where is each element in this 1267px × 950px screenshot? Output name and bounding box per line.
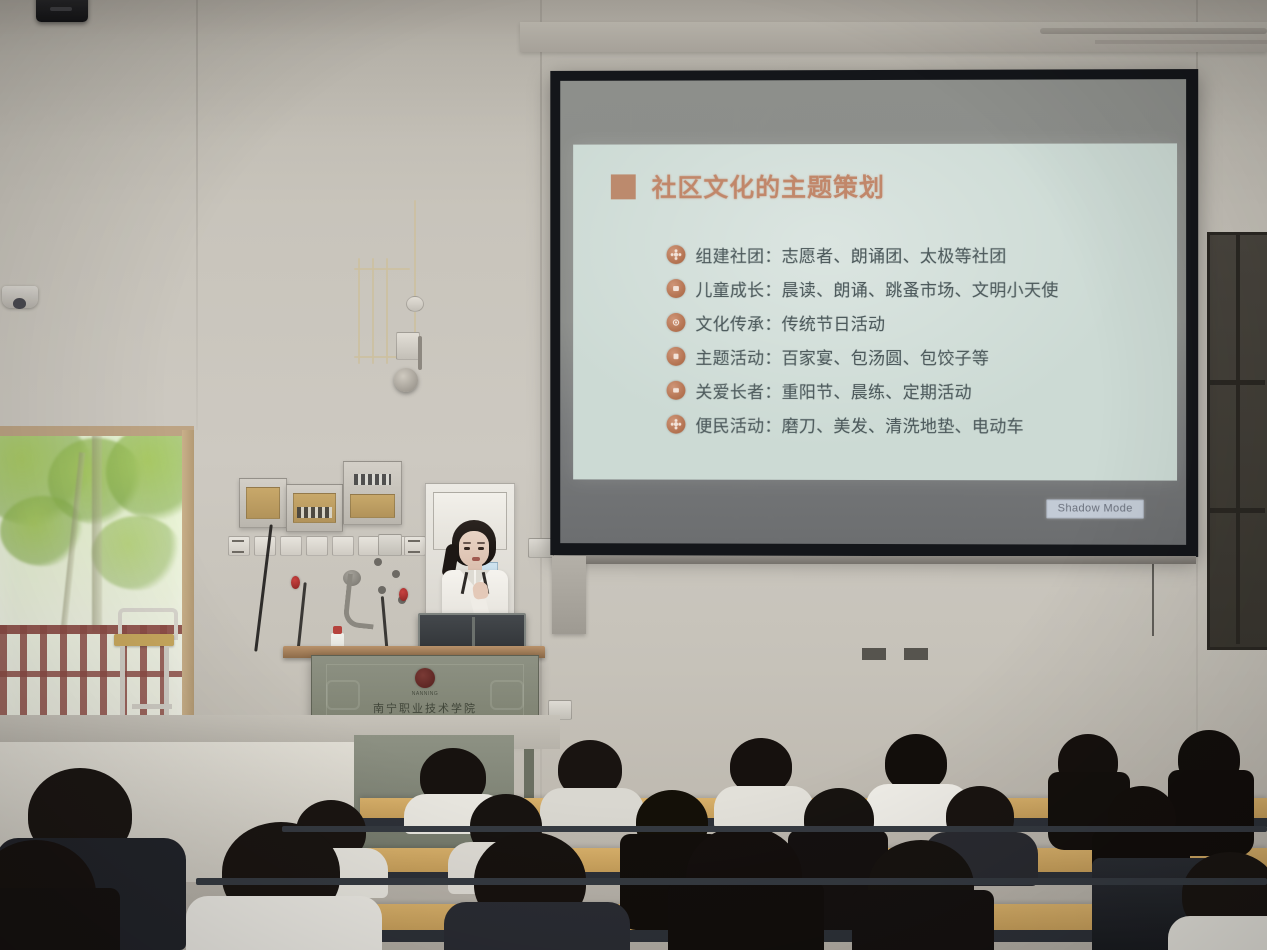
square-bullet-icon	[667, 381, 686, 400]
screen-mount-bracket	[552, 556, 586, 634]
slide-item-text: 主题活动：百家宴、包汤圆、包饺子等	[695, 344, 989, 369]
breaker-box	[378, 534, 402, 556]
slide-title-row: 社区文化的主题策划	[611, 168, 885, 204]
slide-item-text: 儿童成长：晨读、朗诵、跳蚤市场、文明小天使	[695, 276, 1058, 301]
wall-lamp-icon	[394, 368, 418, 392]
slide-item-text: 便民活动：磨刀、美发、清洗地垫、电动车	[695, 412, 1024, 437]
audience-long-hair	[668, 882, 824, 950]
wall-hole	[374, 558, 382, 566]
presenter-hand	[472, 581, 489, 600]
panel-breaker-row	[354, 474, 391, 485]
projection-surface: 社区文化的主题策划 组建社团：志愿者、朗诵团、太极等社团 儿童成长：晨读、朗诵、	[560, 79, 1186, 545]
slide-item-text: 文化传承：传统节日活动	[695, 310, 885, 335]
wall-mark-2	[904, 648, 928, 660]
slide-list-item: 组建社团：志愿者、朗诵团、太极等社团	[667, 242, 1157, 267]
gooseneck-mount	[342, 574, 378, 630]
presenter-brow-right	[477, 542, 485, 544]
camera-lens	[13, 298, 26, 309]
audience-long-hair	[852, 890, 994, 950]
tree-foliage-5	[92, 516, 182, 590]
bench-rail-front	[196, 878, 1267, 885]
presenter-mouth	[472, 557, 480, 561]
ceiling-pipe-secondary	[1095, 40, 1267, 44]
conduit-pipe-2	[372, 258, 374, 364]
panel-breaker-row	[297, 507, 332, 518]
slide-item-text: 组建社团：志愿者、朗诵团、太极等社团	[695, 242, 1006, 267]
window-mullion-h1	[1207, 380, 1265, 385]
ceiling-beam	[520, 22, 1267, 52]
wall-outlet[interactable]	[332, 536, 354, 556]
slide-list-item: 主题活动：百家宴、包汤圆、包饺子等	[667, 344, 1157, 369]
slide-list-item: 关爱长者：重阳节、晨练、定期活动	[667, 378, 1157, 403]
wall-seam-mid	[196, 0, 198, 430]
wall-outlet[interactable]	[306, 536, 328, 556]
slide-bullet-list: 组建社团：志愿者、朗诵团、太极等社团 儿童成长：晨读、朗诵、跳蚤市场、文明小天使…	[667, 242, 1157, 438]
projection-screen[interactable]: 社区文化的主题策划 组建社团：志愿者、朗诵团、太极等社团 儿童成长：晨读、朗诵、	[550, 69, 1198, 557]
ceiling-pipe	[1040, 28, 1267, 34]
square-bullet-icon	[667, 279, 686, 298]
institution-logo-icon	[415, 668, 435, 688]
junction-box	[396, 332, 420, 360]
presentation-slide[interactable]: 社区文化的主题策划 组建社团：志愿者、朗诵团、太极等社团 儿童成长：晨读、朗诵、	[573, 143, 1177, 480]
slide-item-text: 关爱长者：重阳节、晨练、定期活动	[695, 378, 971, 403]
conduit-pipe-3	[386, 258, 388, 364]
window-mullion-vertical	[1236, 232, 1240, 644]
classroom-presentation-photo: 社区文化的主题策划 组建社团：志愿者、朗诵团、太极等社团 儿童成长：晨读、朗诵、	[0, 0, 1267, 950]
audience-long-hair	[0, 888, 120, 950]
wall-outlet[interactable]	[254, 536, 276, 556]
wall-hole	[392, 570, 400, 578]
dot-bullet-icon	[667, 313, 686, 332]
chair-seat	[114, 634, 174, 646]
electrical-panel-3	[343, 461, 402, 525]
ceiling-speaker	[36, 0, 88, 22]
electrical-panel-2	[286, 484, 343, 532]
conduit-crossbar-top	[354, 268, 410, 270]
slide-list-item: 便民活动：磨刀、美发、清洗地垫、电动车	[667, 412, 1157, 438]
audience-area	[0, 690, 1267, 950]
audience-shoulders	[444, 902, 630, 950]
square-bullet-icon	[667, 347, 686, 366]
conduit-pipe-1	[358, 258, 360, 364]
speaker-grille	[50, 7, 72, 11]
audience-shoulders	[714, 786, 814, 830]
bench-rail-middle	[282, 826, 1267, 832]
flower-bullet-icon	[667, 245, 686, 264]
slide-title: 社区文化的主题策划	[652, 168, 885, 204]
presenter-brow-left	[463, 542, 471, 544]
wall-hole	[378, 586, 386, 594]
bottle-cap	[333, 626, 342, 634]
tree-trunk-1	[92, 432, 102, 632]
title-square-bullet-icon	[611, 174, 636, 199]
slide-list-item: 文化传承：传统节日活动	[667, 310, 1157, 335]
conduit-fitting	[406, 296, 424, 312]
microphone-head-left[interactable]	[291, 576, 300, 589]
flower-bullet-icon	[667, 415, 686, 434]
panel-face	[350, 494, 395, 518]
electrical-panel-1	[239, 478, 287, 528]
wall-outlet[interactable]	[358, 536, 380, 556]
security-camera	[2, 286, 38, 308]
shadow-mode-badge[interactable]: Shadow Mode	[1047, 499, 1144, 518]
microphone-head-right[interactable]	[399, 588, 408, 601]
presenter-eye-left	[464, 547, 470, 550]
presenter-eye-right	[478, 547, 484, 550]
slide-list-item: 儿童成长：晨读、朗诵、跳蚤市场、文明小天使	[667, 276, 1157, 301]
window-mullion-h2	[1207, 508, 1265, 513]
outlet-slots	[232, 540, 244, 553]
door-frame-top	[0, 426, 194, 436]
outlet-slots	[408, 540, 420, 553]
panel-face	[246, 487, 280, 519]
screen-bottom-bar	[586, 556, 1196, 564]
hanging-wire	[1152, 560, 1154, 636]
wall-outlet[interactable]	[280, 536, 302, 556]
wall-mark-1	[862, 648, 886, 660]
audience-shoulders	[1168, 916, 1267, 950]
lamp-arm	[418, 336, 422, 370]
audience-shoulders	[186, 896, 382, 950]
